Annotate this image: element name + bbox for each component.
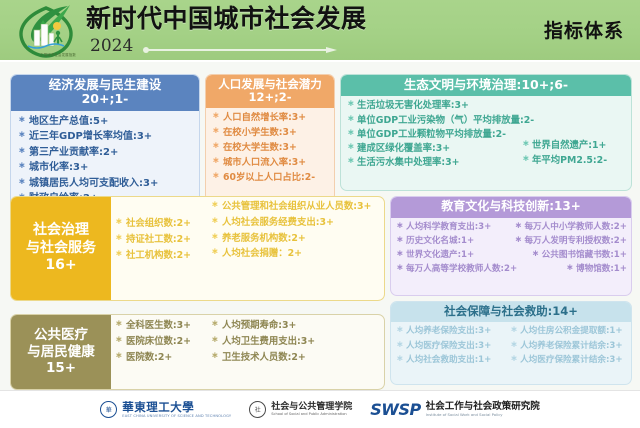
ecust-name-cn: 華東理工大學 — [122, 401, 231, 414]
list-item: 人均社会救助支出:1+ — [395, 355, 509, 366]
panel-governance-header: 社会治理 与社会服务 16+ — [11, 197, 111, 300]
list-item: 社工机构数:2+ — [115, 250, 211, 262]
panel-education-header: 教育文化与科技创新:13+ — [391, 197, 631, 218]
list-item: 世界文化遗产:1+ — [395, 250, 513, 261]
list-item: 人均医疗保险支出:3+ — [395, 341, 509, 352]
list-item: 人均卫生费用支出:3+ — [211, 336, 381, 348]
panel-health-count: 15+ — [46, 360, 76, 377]
page-footer: 華 華東理工大學 EAST CHINA UNIVERSITY OF SCIENC… — [0, 390, 640, 428]
page-title: 新时代中国城市社会发展 — [86, 4, 367, 34]
security-list-col2: 人均住房公积金提取额:1+ 人均养老保险累计结余:3+ 人均医疗保险累计结余:3… — [509, 326, 627, 366]
footer-org-school: 社 社会与公共管理学院 School of Social and Public … — [249, 401, 352, 418]
list-item: 人均住房公积金提取额:1+ — [509, 326, 627, 337]
education-list-col1: 人均科学教育支出:3+ 历史文化名城:1+ 世界文化遗产:1+ 每万人高等学校教… — [395, 222, 513, 275]
school-seal-icon: 社 — [249, 401, 266, 418]
panel-ecology-header: 生态文明与环境治理:10+;6- — [341, 75, 631, 96]
ecology-list-col1: 生活垃圾无害化处理率:3+ 单位GDP工业污染物（气）平均排放量:2- 单位GD… — [345, 100, 520, 168]
list-item: 单位GDP工业污染物（气）平均排放量:2- — [345, 115, 520, 127]
panel-health-title-line1: 公共医疗 — [34, 327, 88, 344]
panel-governance: 社会治理 与社会服务 16+ 社会组织数:2+ 持证社工数:2+ 社工机构数:2… — [10, 196, 385, 301]
panel-health: 公共医疗 与居民健康 15+ 全科医生数:3+ 医院床位数:2+ 医院数:2+ … — [10, 314, 385, 390]
governance-list-col2: 公共管理和社会组织从业人员数:3+ 人均社会服务经费支出:3+ 养老服务机构数:… — [211, 201, 381, 260]
list-item: 养老服务机构数:2+ — [211, 233, 381, 245]
health-list-col1: 全科医生数:3+ 医院床位数:2+ 医院数:2+ — [115, 320, 211, 363]
list-item: 卫生技术人员数:2+ — [211, 352, 381, 364]
panel-population-body: 人口自然增长率:3+ 在校小学生数:3+ 在校大学生数:3+ 城市人口流入率:3… — [206, 108, 334, 189]
list-item: 城市人口流入率:3+ — [210, 157, 330, 168]
list-item: 近三年GDP增长率均值:3+ — [15, 131, 195, 143]
list-item: 人均养老保险支出:3+ — [395, 326, 509, 337]
panel-health-header: 公共医疗 与居民健康 15+ — [11, 315, 111, 389]
list-item: 人口自然增长率:3+ — [210, 112, 330, 123]
panel-population: 人口发展与社会潜力 12+;2- 人口自然增长率:3+ 在校小学生数:3+ 在校… — [205, 74, 335, 202]
population-list: 人口自然增长率:3+ 在校小学生数:3+ 在校大学生数:3+ 城市人口流入率:3… — [210, 112, 330, 183]
list-item: 社会组织数:2+ — [115, 218, 211, 230]
list-item: 人均预期寿命:3+ — [211, 320, 381, 332]
page-header: 中国城市社会发展指数 新时代中国城市社会发展 2024 指标体系 — [0, 0, 640, 62]
list-item: 城市化率:3+ — [15, 162, 195, 174]
panel-governance-body: 社会组织数:2+ 持证社工数:2+ 社工机构数:2+ 公共管理和社会组织从业人员… — [115, 201, 383, 265]
list-item: 全科医生数:3+ — [115, 320, 211, 332]
list-item: 每万人高等学校教师人数:2+ — [395, 264, 513, 275]
list-item: 在校小学生数:3+ — [210, 127, 330, 138]
list-item: 医院床位数:2+ — [115, 336, 211, 348]
list-item: 建成区绿化覆盖率:3+ — [345, 143, 520, 155]
ecust-seal-icon: 華 — [100, 401, 117, 418]
list-item: 人均社会服务经费支出:3+ — [211, 217, 381, 229]
panel-security-title: 社会保障与社会救助:14+ — [393, 305, 629, 318]
list-item: 60岁以上人口占比:2- — [210, 172, 330, 183]
list-item: 公共管理和社会组织从业人员数:3+ — [211, 201, 381, 213]
list-item: 在校大学生数:3+ — [210, 142, 330, 153]
panel-education-title: 教育文化与科技创新:13+ — [393, 200, 629, 214]
list-item: 生活污水集中处理率:3+ — [345, 157, 520, 169]
list-item: 人均科学教育支出:3+ — [395, 222, 513, 233]
governance-list-col1: 社会组织数:2+ 持证社工数:2+ 社工机构数:2+ — [115, 218, 211, 261]
security-list-col1: 人均养老保险支出:3+ 人均医疗保险支出:3+ 人均社会救助支出:1+ — [395, 326, 509, 366]
panel-security: 社会保障与社会救助:14+ 人均养老保险支出:3+ 人均医疗保险支出:3+ 人均… — [390, 301, 632, 385]
footer-org-swsp: SWSP 社会工作与社会政策研究院 Institute of Social Wo… — [370, 400, 539, 419]
panel-economy-header: 经济发展与民生建设 20+;1- — [11, 75, 199, 111]
list-item: 人均医疗保险累计结余:3+ — [509, 355, 627, 366]
education-list-col2: 每万人中小学教师人数:2+ 每万人发明专利授权数:2+ 公共图书馆藏书数:1+ … — [513, 222, 627, 279]
panel-ecology-title: 生态文明与环境治理:10+;6- — [343, 78, 629, 92]
footer-org-ecust: 華 華東理工大學 EAST CHINA UNIVERSITY OF SCIENC… — [100, 401, 231, 418]
panel-health-title-line2: 与居民健康 — [27, 344, 95, 361]
panel-health-body: 全科医生数:3+ 医院床位数:2+ 医院数:2+ 人均预期寿命:3+ 人均卫生费… — [115, 320, 383, 367]
list-item: 每万人发明专利授权数:2+ — [513, 236, 627, 247]
school-name-en: School of Social and Public Administrati… — [271, 412, 352, 416]
ecust-name-en: EAST CHINA UNIVERSITY OF SCIENCE AND TEC… — [122, 414, 231, 418]
ecology-list-col2: 世界自然遗产:1+ 年平均PM2.5:2- — [520, 140, 627, 166]
year-arrow-divider — [142, 46, 337, 54]
list-item: 博物馆数:1+ — [565, 264, 627, 275]
swsp-mark-icon: SWSP — [370, 400, 420, 419]
list-item: 公共图书馆藏书数:1+ — [531, 250, 627, 261]
panel-population-count: 12+;2- — [208, 91, 332, 104]
panel-economy-title: 经济发展与民生建设 — [13, 78, 197, 92]
project-logo: 中国城市社会发展指数 — [12, 2, 80, 60]
panel-population-header: 人口发展与社会潜力 12+;2- — [206, 75, 334, 108]
list-item: 人均养老保险累计结余:3+ — [509, 341, 627, 352]
panel-security-header: 社会保障与社会救助:14+ — [391, 302, 631, 322]
list-item: 城镇居民人均可支配收入:3+ — [15, 178, 195, 190]
list-item: 历史文化名城:1+ — [395, 236, 513, 247]
panel-security-body: 人均养老保险支出:3+ 人均医疗保险支出:3+ 人均社会救助支出:1+ 人均住房… — [391, 322, 631, 373]
panel-governance-count: 16+ — [45, 257, 76, 275]
school-name-cn: 社会与公共管理学院 — [271, 403, 352, 413]
panel-ecology-body: 生活垃圾无害化处理率:3+ 单位GDP工业污染物（气）平均排放量:2- 单位GD… — [341, 96, 631, 174]
list-item: 第三产业贡献率:2+ — [15, 147, 195, 159]
list-item: 单位GDP工业颗粒物平均排放量:2- — [345, 129, 520, 141]
panel-education-body: 人均科学教育支出:3+ 历史文化名城:1+ 世界文化遗产:1+ 每万人高等学校教… — [391, 218, 631, 282]
panel-ecology: 生态文明与环境治理:10+;6- 生活垃圾无害化处理率:3+ 单位GDP工业污染… — [340, 74, 632, 191]
list-item: 每万人中小学教师人数:2+ — [513, 222, 627, 233]
panel-governance-title-line2: 与社会服务 — [26, 240, 96, 258]
list-item: 地区生产总值:5+ — [15, 116, 195, 128]
panel-governance-title-line1: 社会治理 — [33, 222, 89, 240]
swsp-name-cn: 社会工作与社会政策研究院 — [426, 402, 540, 412]
list-item: 年平均PM2.5:2- — [520, 155, 627, 167]
panel-economy-count: 20+;1- — [13, 92, 197, 106]
page-year: 2024 — [90, 36, 133, 56]
panel-education: 教育文化与科技创新:13+ 人均科学教育支出:3+ 历史文化名城:1+ 世界文化… — [390, 196, 632, 296]
list-item: 医院数:2+ — [115, 352, 211, 364]
logo-caption: 中国城市社会发展指数 — [26, 52, 90, 57]
list-item: 生活垃圾无害化处理率:3+ — [345, 100, 520, 112]
health-list-col2: 人均预期寿命:3+ 人均卫生费用支出:3+ 卫生技术人员数:2+ — [211, 320, 381, 363]
list-item: 人均社会捐赠：2+ — [211, 248, 381, 260]
list-item: 持证社工数:2+ — [115, 234, 211, 246]
list-item: 世界自然遗产:1+ — [520, 140, 627, 152]
swsp-name-en: Institute of Social Work and Social Poli… — [426, 412, 540, 417]
page-subtitle: 指标体系 — [544, 16, 624, 43]
